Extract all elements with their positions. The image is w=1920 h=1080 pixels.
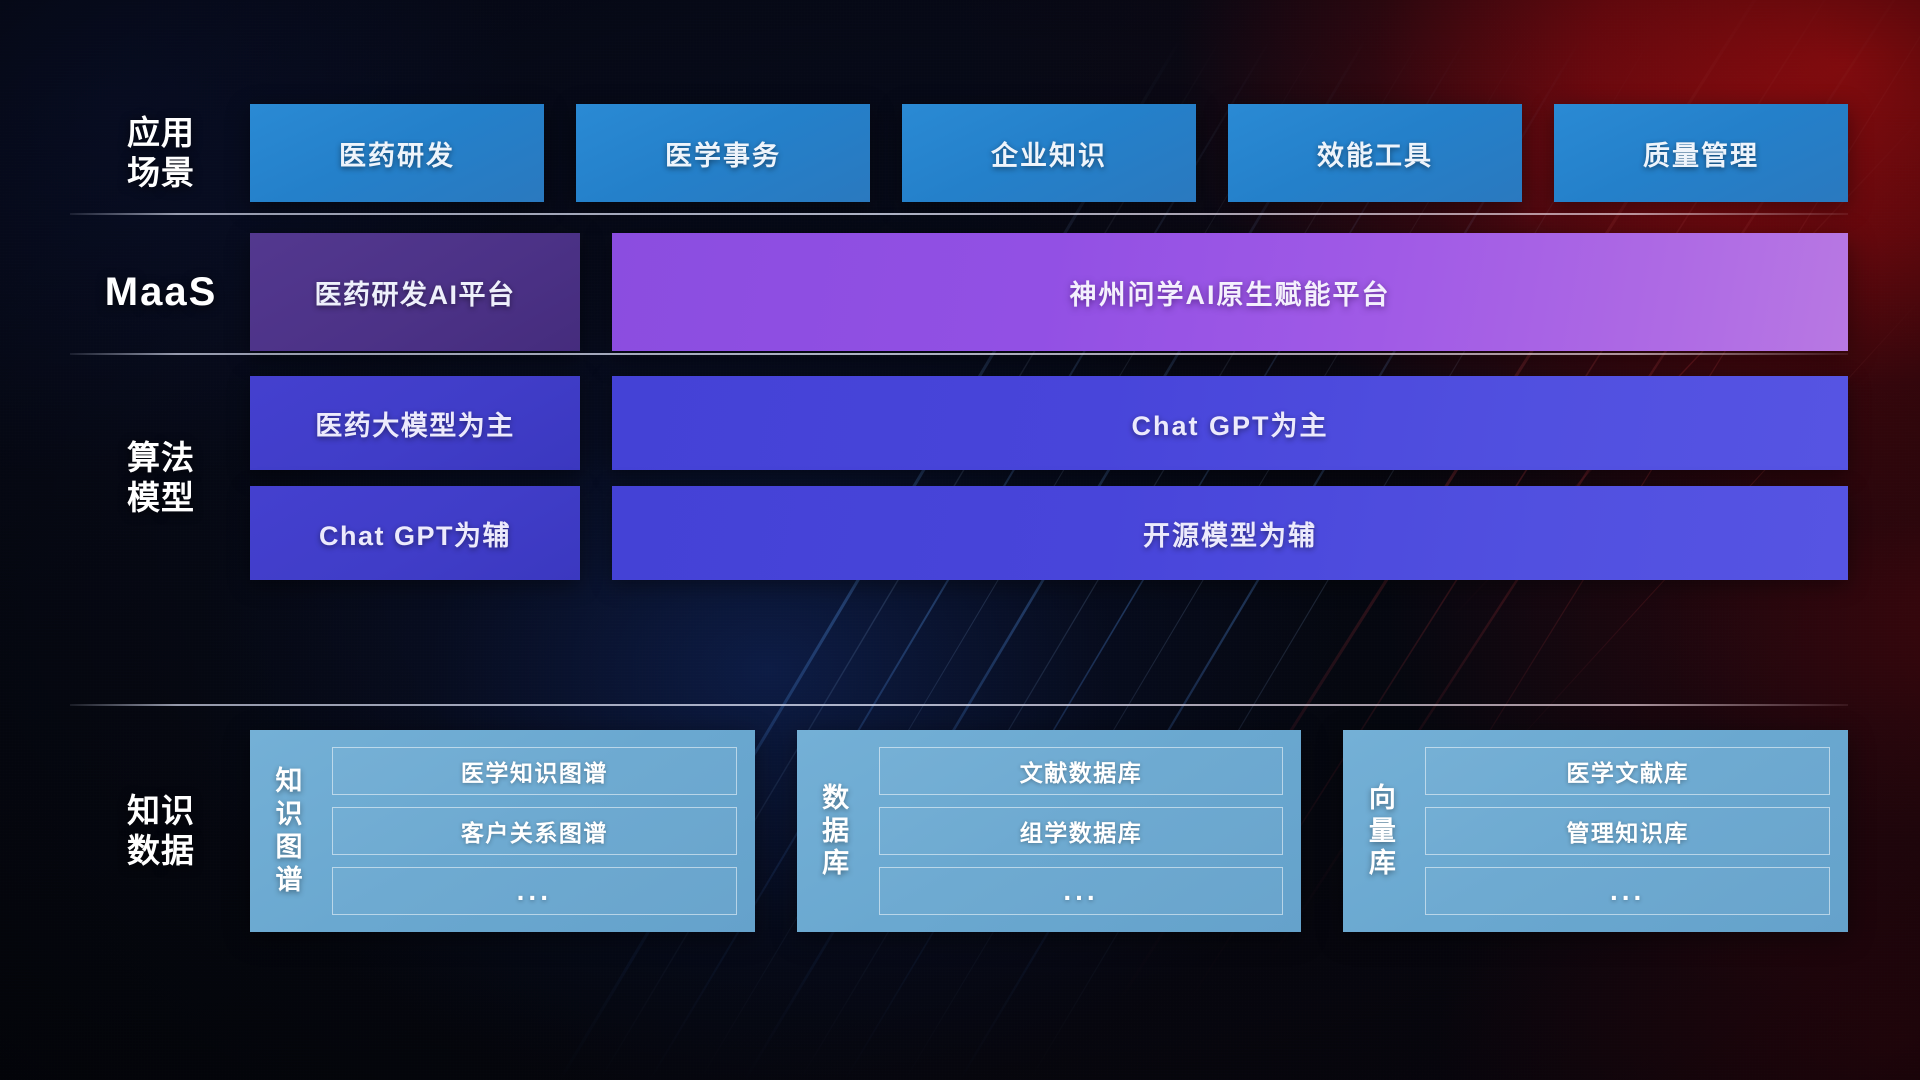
layer-label-application-scenarios: 应用 场景 [72,113,250,194]
layer-maas: MaaS 医药研发AI平台 神州问学AI原生赋能平台 [72,233,1848,351]
maas-body: 医药研发AI平台 神州问学AI原生赋能平台 [250,233,1848,351]
maas-card-shenzhou-wenxue-platform[interactable]: 神州问学AI原生赋能平台 [612,233,1848,351]
knowledge-item-list: 文献数据库 组学数据库 ... [879,746,1284,916]
layer-application-scenarios: 应用 场景 医药研发 医学事务 企业知识 效能工具 质量管理 [72,104,1848,202]
layer-label-line: 算法 [72,438,250,478]
knowledge-item-more[interactable]: ... [879,867,1284,915]
maas-card-grid: 医药研发AI平台 神州问学AI原生赋能平台 [250,233,1848,351]
layer-label-line: MaaS [72,268,250,317]
algo-card-chatgpt-secondary[interactable]: Chat GPT为辅 [250,486,580,580]
layer-label-line: 模型 [72,478,250,518]
app-card-medicine-rd[interactable]: 医药研发 [250,104,544,202]
knowledge-block-vector-database[interactable]: 向 量 库 医学文献库 管理知识库 ... [1343,730,1848,932]
layer-algorithm-models: 算法 模型 医药大模型为主 Chat GPT为主 Chat GPT为辅 开源模型… [72,376,1848,580]
algorithm-row-primary: 医药大模型为主 Chat GPT为主 [250,376,1848,470]
knowledge-block-grid: 知 识 图 谱 医学知识图谱 客户关系图谱 ... [250,730,1848,932]
app-card-quality-management[interactable]: 质量管理 [1554,104,1848,202]
layer-label-line: 数据 [72,831,250,871]
knowledge-item-list: 医学文献库 管理知识库 ... [1425,746,1830,916]
vtitle-char: 数 [822,782,849,815]
vtitle-char: 库 [822,847,849,880]
vtitle-char: 谱 [276,864,303,897]
algorithm-models-body: 医药大模型为主 Chat GPT为主 Chat GPT为辅 开源模型为辅 [250,376,1848,580]
vtitle-char: 量 [1369,815,1396,848]
vtitle-char: 向 [1369,782,1396,815]
knowledge-block-title-vector-database: 向 量 库 [1353,746,1411,916]
knowledge-block-title-knowledge-graph: 知 识 图 谱 [260,746,318,916]
knowledge-item-customer-relation-graph[interactable]: 客户关系图谱 [332,807,737,855]
vtitle-char: 库 [1369,847,1396,880]
knowledge-block-knowledge-graph[interactable]: 知 识 图 谱 医学知识图谱 客户关系图谱 ... [250,730,755,932]
knowledge-block-title-database: 数 据 库 [807,746,865,916]
app-card-enterprise-knowledge[interactable]: 企业知识 [902,104,1196,202]
algorithm-card-stack: 医药大模型为主 Chat GPT为主 Chat GPT为辅 开源模型为辅 [250,376,1848,580]
knowledge-item-literature-database[interactable]: 文献数据库 [879,747,1284,795]
divider-line-1 [70,213,1848,215]
architecture-stack: 应用 场景 医药研发 医学事务 企业知识 效能工具 质量管理 MaaS 医药研 [0,0,1920,1080]
application-card-grid: 医药研发 医学事务 企业知识 效能工具 质量管理 [250,104,1848,202]
layer-knowledge-data: 知识 数据 知 识 图 谱 医学知识图谱 客户 [72,730,1848,932]
knowledge-item-medical-knowledge-graph[interactable]: 医学知识图谱 [332,747,737,795]
algorithm-row-secondary: Chat GPT为辅 开源模型为辅 [250,486,1848,580]
algo-card-chatgpt-primary[interactable]: Chat GPT为主 [612,376,1848,470]
knowledge-item-management-knowledge-base[interactable]: 管理知识库 [1425,807,1830,855]
knowledge-item-omics-database[interactable]: 组学数据库 [879,807,1284,855]
algo-card-pharma-llm-primary[interactable]: 医药大模型为主 [250,376,580,470]
slide-canvas: 应用 场景 医药研发 医学事务 企业知识 效能工具 质量管理 MaaS 医药研 [0,0,1920,1080]
app-card-efficiency-tools[interactable]: 效能工具 [1228,104,1522,202]
knowledge-item-more[interactable]: ... [332,867,737,915]
divider-line-3 [70,704,1848,706]
vtitle-char: 识 [276,798,303,831]
app-card-medical-affairs[interactable]: 医学事务 [576,104,870,202]
layer-label-line: 场景 [72,153,250,193]
layer-label-knowledge-data: 知识 数据 [72,791,250,872]
knowledge-item-list: 医学知识图谱 客户关系图谱 ... [332,746,737,916]
knowledge-block-database[interactable]: 数 据 库 文献数据库 组学数据库 ... [797,730,1302,932]
maas-card-pharma-ai-platform[interactable]: 医药研发AI平台 [250,233,580,351]
layer-label-line: 应用 [72,113,250,153]
divider-line-2 [70,353,1848,355]
vtitle-char: 图 [276,831,303,864]
knowledge-item-medical-literature-library[interactable]: 医学文献库 [1425,747,1830,795]
layer-label-algorithm-models: 算法 模型 [72,438,250,519]
vtitle-char: 知 [276,765,303,798]
application-scenarios-body: 医药研发 医学事务 企业知识 效能工具 质量管理 [250,104,1848,202]
algo-card-opensource-secondary[interactable]: 开源模型为辅 [612,486,1848,580]
knowledge-data-body: 知 识 图 谱 医学知识图谱 客户关系图谱 ... [250,730,1848,932]
layer-label-maas: MaaS [72,268,250,317]
knowledge-item-more[interactable]: ... [1425,867,1830,915]
layer-label-line: 知识 [72,791,250,831]
vtitle-char: 据 [822,815,849,848]
